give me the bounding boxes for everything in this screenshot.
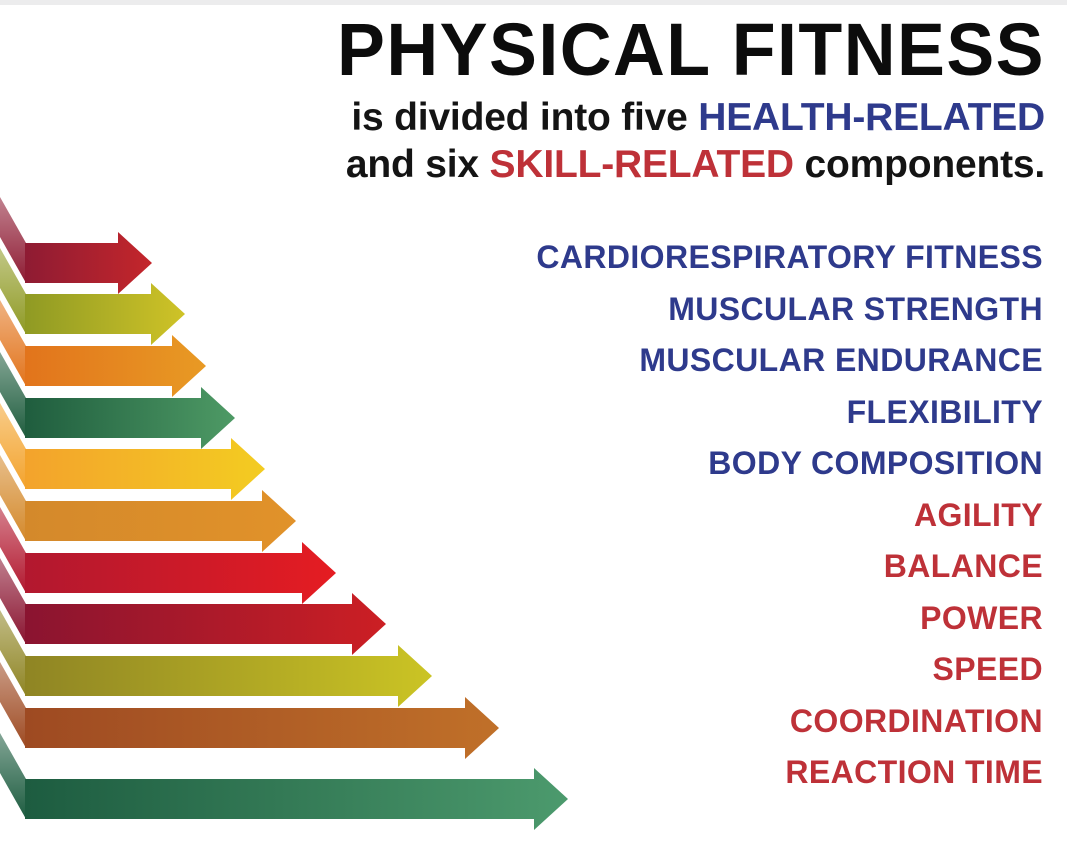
arrow-body [25, 387, 235, 449]
component-label: SPEED [223, 644, 1043, 696]
health-related-keyword: HEALTH-RELATED [698, 96, 1045, 139]
component-label: BODY COMPOSITION [223, 438, 1043, 490]
component-label: CARDIORESPIRATORY FITNESS [223, 232, 1043, 284]
arrow-body [25, 283, 185, 345]
component-label: MUSCULAR STRENGTH [223, 284, 1043, 336]
component-label: BALANCE [223, 541, 1043, 593]
component-arrow [0, 197, 152, 294]
component-label-list: CARDIORESPIRATORY FITNESSMUSCULAR STRENG… [223, 232, 1043, 799]
component-label: AGILITY [223, 490, 1043, 542]
arrow-tail-fold [0, 733, 26, 819]
arrow-body [25, 335, 206, 397]
component-label: MUSCULAR ENDURANCE [223, 335, 1043, 387]
infographic-canvas: PHYSICAL FITNESS is divided into five HE… [0, 0, 1067, 852]
component-label: POWER [223, 593, 1043, 645]
component-label: REACTION TIME [223, 747, 1043, 799]
component-label: FLEXIBILITY [223, 387, 1043, 439]
arrow-body [25, 232, 152, 294]
subtitle-line-skill-suffix: components. [794, 143, 1045, 186]
component-label: COORDINATION [223, 696, 1043, 748]
